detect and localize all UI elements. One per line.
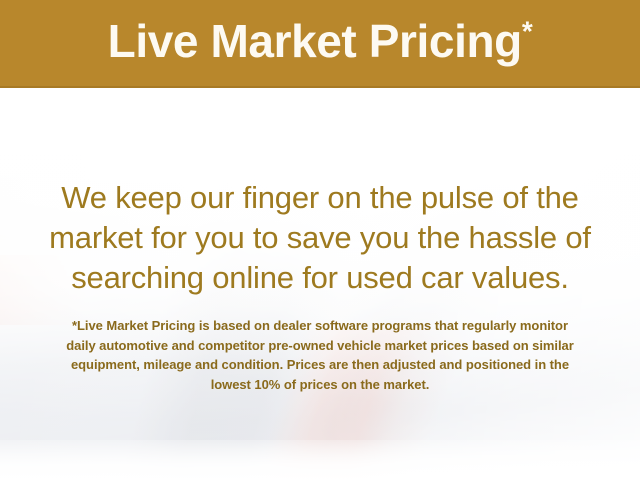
headline-line-2: market for you to save you the hassle of [26,218,614,258]
headline-text: We keep our finger on the pulse of the m… [26,178,614,298]
disclaimer-line-3: equipment, mileage and condition. Prices… [26,355,614,375]
headline-line-3: searching online for used car values. [26,258,614,298]
title-asterisk-marker: * [522,16,533,47]
page-title: Live Market Pricing* [108,18,533,68]
disclaimer-text: *Live Market Pricing is based on dealer … [26,316,614,394]
page-title-text: Live Market Pricing [108,15,522,67]
disclaimer-line-1: *Live Market Pricing is based on dealer … [26,316,614,336]
disclaimer-line-4: lowest 10% of prices on the market. [26,375,614,395]
disclaimer-line-2: daily automotive and competitor pre-owne… [26,336,614,356]
live-market-pricing-slide: Live Market Pricing* We keep our finger … [0,0,640,480]
background-bottom-fade [0,440,640,480]
header-banner: Live Market Pricing* [0,0,640,88]
headline-line-1: We keep our finger on the pulse of the [26,178,614,218]
